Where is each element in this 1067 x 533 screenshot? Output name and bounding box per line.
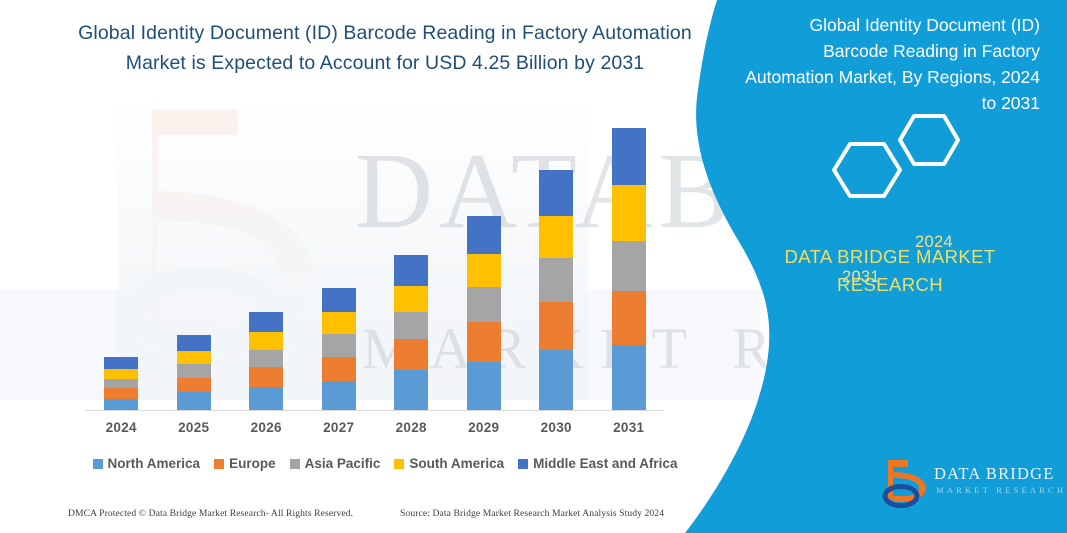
bar-segment (249, 312, 283, 332)
bar-2026 (249, 312, 283, 410)
bar-2025 (177, 335, 211, 410)
legend-label: North America (108, 456, 201, 471)
bar-segment (539, 216, 573, 258)
bar-segment (467, 216, 501, 254)
x-label-2028: 2028 (375, 420, 447, 435)
legend-item[interactable]: Asia Pacific (290, 456, 381, 471)
bar-segment (467, 254, 501, 287)
bar-segment (322, 312, 356, 334)
bar-segment (394, 370, 428, 410)
bar-segment (249, 350, 283, 368)
bar-segment (177, 364, 211, 378)
right-panel-content: Global Identity Document (ID) Barcode Re… (740, 0, 1067, 533)
bar-segment (177, 335, 211, 351)
hexagon-outlines-icon (810, 108, 1010, 218)
legend-swatch-icon (93, 459, 103, 469)
legend-label: Europe (229, 456, 276, 471)
bar-2029 (467, 216, 501, 410)
bar-segment (249, 332, 283, 350)
x-axis-line (85, 410, 663, 411)
x-label-2025: 2025 (158, 420, 230, 435)
x-label-2030: 2030 (520, 420, 592, 435)
footer-copyright: DMCA Protected © Data Bridge Market Rese… (68, 508, 353, 519)
legend-label: Asia Pacific (305, 456, 381, 471)
legend-swatch-icon (394, 459, 404, 469)
legend-item[interactable]: North America (93, 456, 201, 471)
bar-segment (539, 170, 573, 216)
bar-segment (249, 387, 283, 410)
chart-plot-area (85, 118, 665, 410)
bar-segment (394, 339, 428, 370)
legend-swatch-icon (290, 459, 300, 469)
bar-segment (539, 302, 573, 350)
legend-label: South America (409, 456, 504, 471)
year-hexagons: 2031 2024 (810, 108, 1010, 218)
chart-title: Global Identity Document (ID) Barcode Re… (60, 18, 710, 78)
panel-title: Global Identity Document (ID) Barcode Re… (740, 12, 1040, 116)
footer-source: Source: Data Bridge Market Research Mark… (400, 508, 664, 519)
legend-item[interactable]: Europe (214, 456, 276, 471)
bar-segment (104, 379, 138, 388)
data-bridge-mark-icon (882, 458, 930, 510)
bar-segment (104, 399, 138, 410)
bar-segment (322, 381, 356, 410)
bar-segment (104, 388, 138, 398)
legend-swatch-icon (518, 459, 528, 469)
brand-text: DATA BRIDGE MARKET RESEARCH (740, 243, 1040, 299)
bar-segment (467, 362, 501, 410)
x-label-2024: 2024 (85, 420, 157, 435)
chart-legend: North AmericaEuropeAsia PacificSouth Ame… (60, 456, 710, 471)
bar-segment (539, 258, 573, 302)
bar-2028 (394, 255, 428, 410)
bar-segment (467, 322, 501, 362)
x-label-2029: 2029 (448, 420, 520, 435)
logo-subtitle: MARKET RESEARCH (936, 485, 1066, 495)
bar-segment (539, 350, 573, 410)
infographic-root: DATABRIDGE MARKET RESEARCH Global Identi… (0, 0, 1067, 533)
bar-2024 (104, 357, 138, 410)
bar-segment (104, 357, 138, 370)
legend-item[interactable]: South America (394, 456, 504, 471)
bar-segment (394, 312, 428, 339)
bar-segment (249, 367, 283, 387)
bar-segment (322, 334, 356, 357)
bar-segment (177, 392, 211, 410)
bar-segment (177, 351, 211, 365)
bar-segment (104, 369, 138, 378)
x-label-2026: 2026 (230, 420, 302, 435)
bar-segment (177, 378, 211, 393)
data-bridge-logo: DATA BRIDGE MARKET RESEARCH (882, 458, 1067, 516)
legend-swatch-icon (214, 459, 224, 469)
logo-name: DATA BRIDGE (934, 464, 1055, 484)
x-axis-labels: 20242025202620272028202920302031 (85, 420, 665, 446)
bar-segment (322, 357, 356, 381)
bar-segment (394, 286, 428, 312)
bar-segment (322, 288, 356, 312)
x-label-2027: 2027 (303, 420, 375, 435)
bar-2027 (322, 288, 356, 410)
bar-segment (394, 255, 428, 286)
bar-2030 (539, 170, 573, 410)
bar-segment (467, 287, 501, 322)
